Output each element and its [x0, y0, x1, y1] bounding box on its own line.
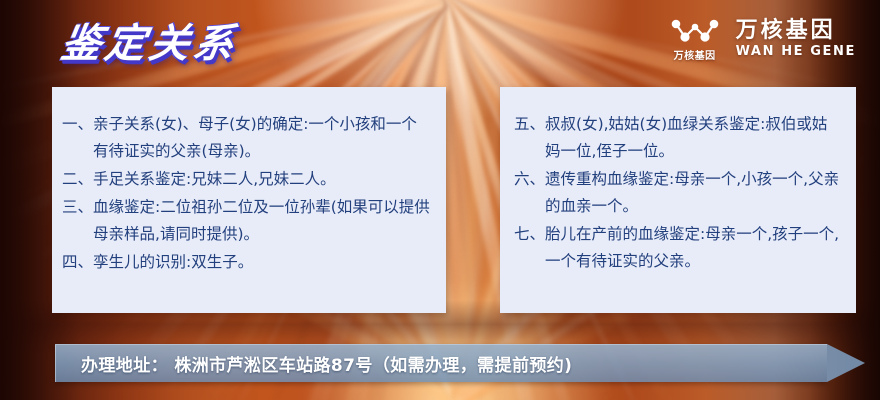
list-item-number: 四、: [62, 249, 93, 276]
list-item: 一、 亲子关系(女)、母子(女)的确定:一个小孩和一个有待证实的父亲(母亲)。: [62, 111, 432, 165]
page-title: 鉴定关系: [57, 11, 242, 69]
list-item: 七、 胎儿在产前的血缘鉴定:母亲一个,孩子一个,一个有待证实的父亲。: [514, 221, 842, 275]
panel-left: 一、 亲子关系(女)、母子(女)的确定:一个小孩和一个有待证实的父亲(母亲)。 …: [52, 87, 446, 313]
list-item-text: 血缘鉴定:二位祖孙二位及一位孙辈(如果可以提供母亲样品,请同时提供)。: [93, 194, 432, 248]
list-item-number: 二、: [62, 166, 93, 193]
list-item: 四、 孪生儿的识别:双生子。: [62, 249, 432, 276]
header: 鉴定关系: [0, 0, 880, 86]
brand-name-en: WAN HE GENE: [736, 44, 856, 59]
list-item-text: 孪生儿的识别:双生子。: [93, 249, 432, 276]
list-item: 二、 手足关系鉴定:兄妹二人,兄妹二人。: [62, 166, 432, 193]
list-item: 三、 血缘鉴定:二位祖孙二位及一位孙辈(如果可以提供母亲样品,请同时提供)。: [62, 194, 432, 248]
brand-logo: 万核基因 万核基因 WAN HE GENE: [668, 16, 856, 62]
footer-address-text: 办理地址： 株洲市芦淞区车站路87号（如需办理，需提前预约): [81, 344, 572, 382]
brand-mark-label: 万核基因: [674, 47, 716, 62]
molecule-network-icon: [668, 16, 722, 46]
list-item: 五、 叔叔(女),姑姑(女)血绿关系鉴定:叔伯或姑妈一位,侄子一位。: [514, 111, 842, 165]
brand-mark: 万核基因: [668, 16, 722, 62]
brand-name-cn: 万核基因: [736, 19, 836, 42]
list-item-number: 五、: [514, 111, 545, 165]
footer-arrow-icon: [827, 344, 865, 382]
panel-right: 五、 叔叔(女),姑姑(女)血绿关系鉴定:叔伯或姑妈一位,侄子一位。 六、 遗传…: [500, 87, 856, 313]
brand-text: 万核基因 WAN HE GENE: [736, 19, 856, 58]
list-item-text: 胎儿在产前的血缘鉴定:母亲一个,孩子一个,一个有待证实的父亲。: [545, 221, 842, 275]
slide-canvas: 鉴定关系: [0, 0, 880, 400]
list-item-number: 三、: [62, 194, 93, 248]
list-item-text: 叔叔(女),姑姑(女)血绿关系鉴定:叔伯或姑妈一位,侄子一位。: [545, 111, 842, 165]
list-item-number: 一、: [62, 111, 93, 165]
list-item-number: 七、: [514, 221, 545, 275]
list-item-text: 遗传重构血缘鉴定:母亲一个,小孩一个,父亲的血亲一个。: [545, 166, 842, 220]
list-item-text: 手足关系鉴定:兄妹二人,兄妹二人。: [93, 166, 432, 193]
list-item: 六、 遗传重构血缘鉴定:母亲一个,小孩一个,父亲的血亲一个。: [514, 166, 842, 220]
list-item-number: 六、: [514, 166, 545, 220]
list-item-text: 亲子关系(女)、母子(女)的确定:一个小孩和一个有待证实的父亲(母亲)。: [93, 111, 432, 165]
footer-banner: 办理地址： 株洲市芦淞区车站路87号（如需办理，需提前预约): [55, 344, 865, 382]
